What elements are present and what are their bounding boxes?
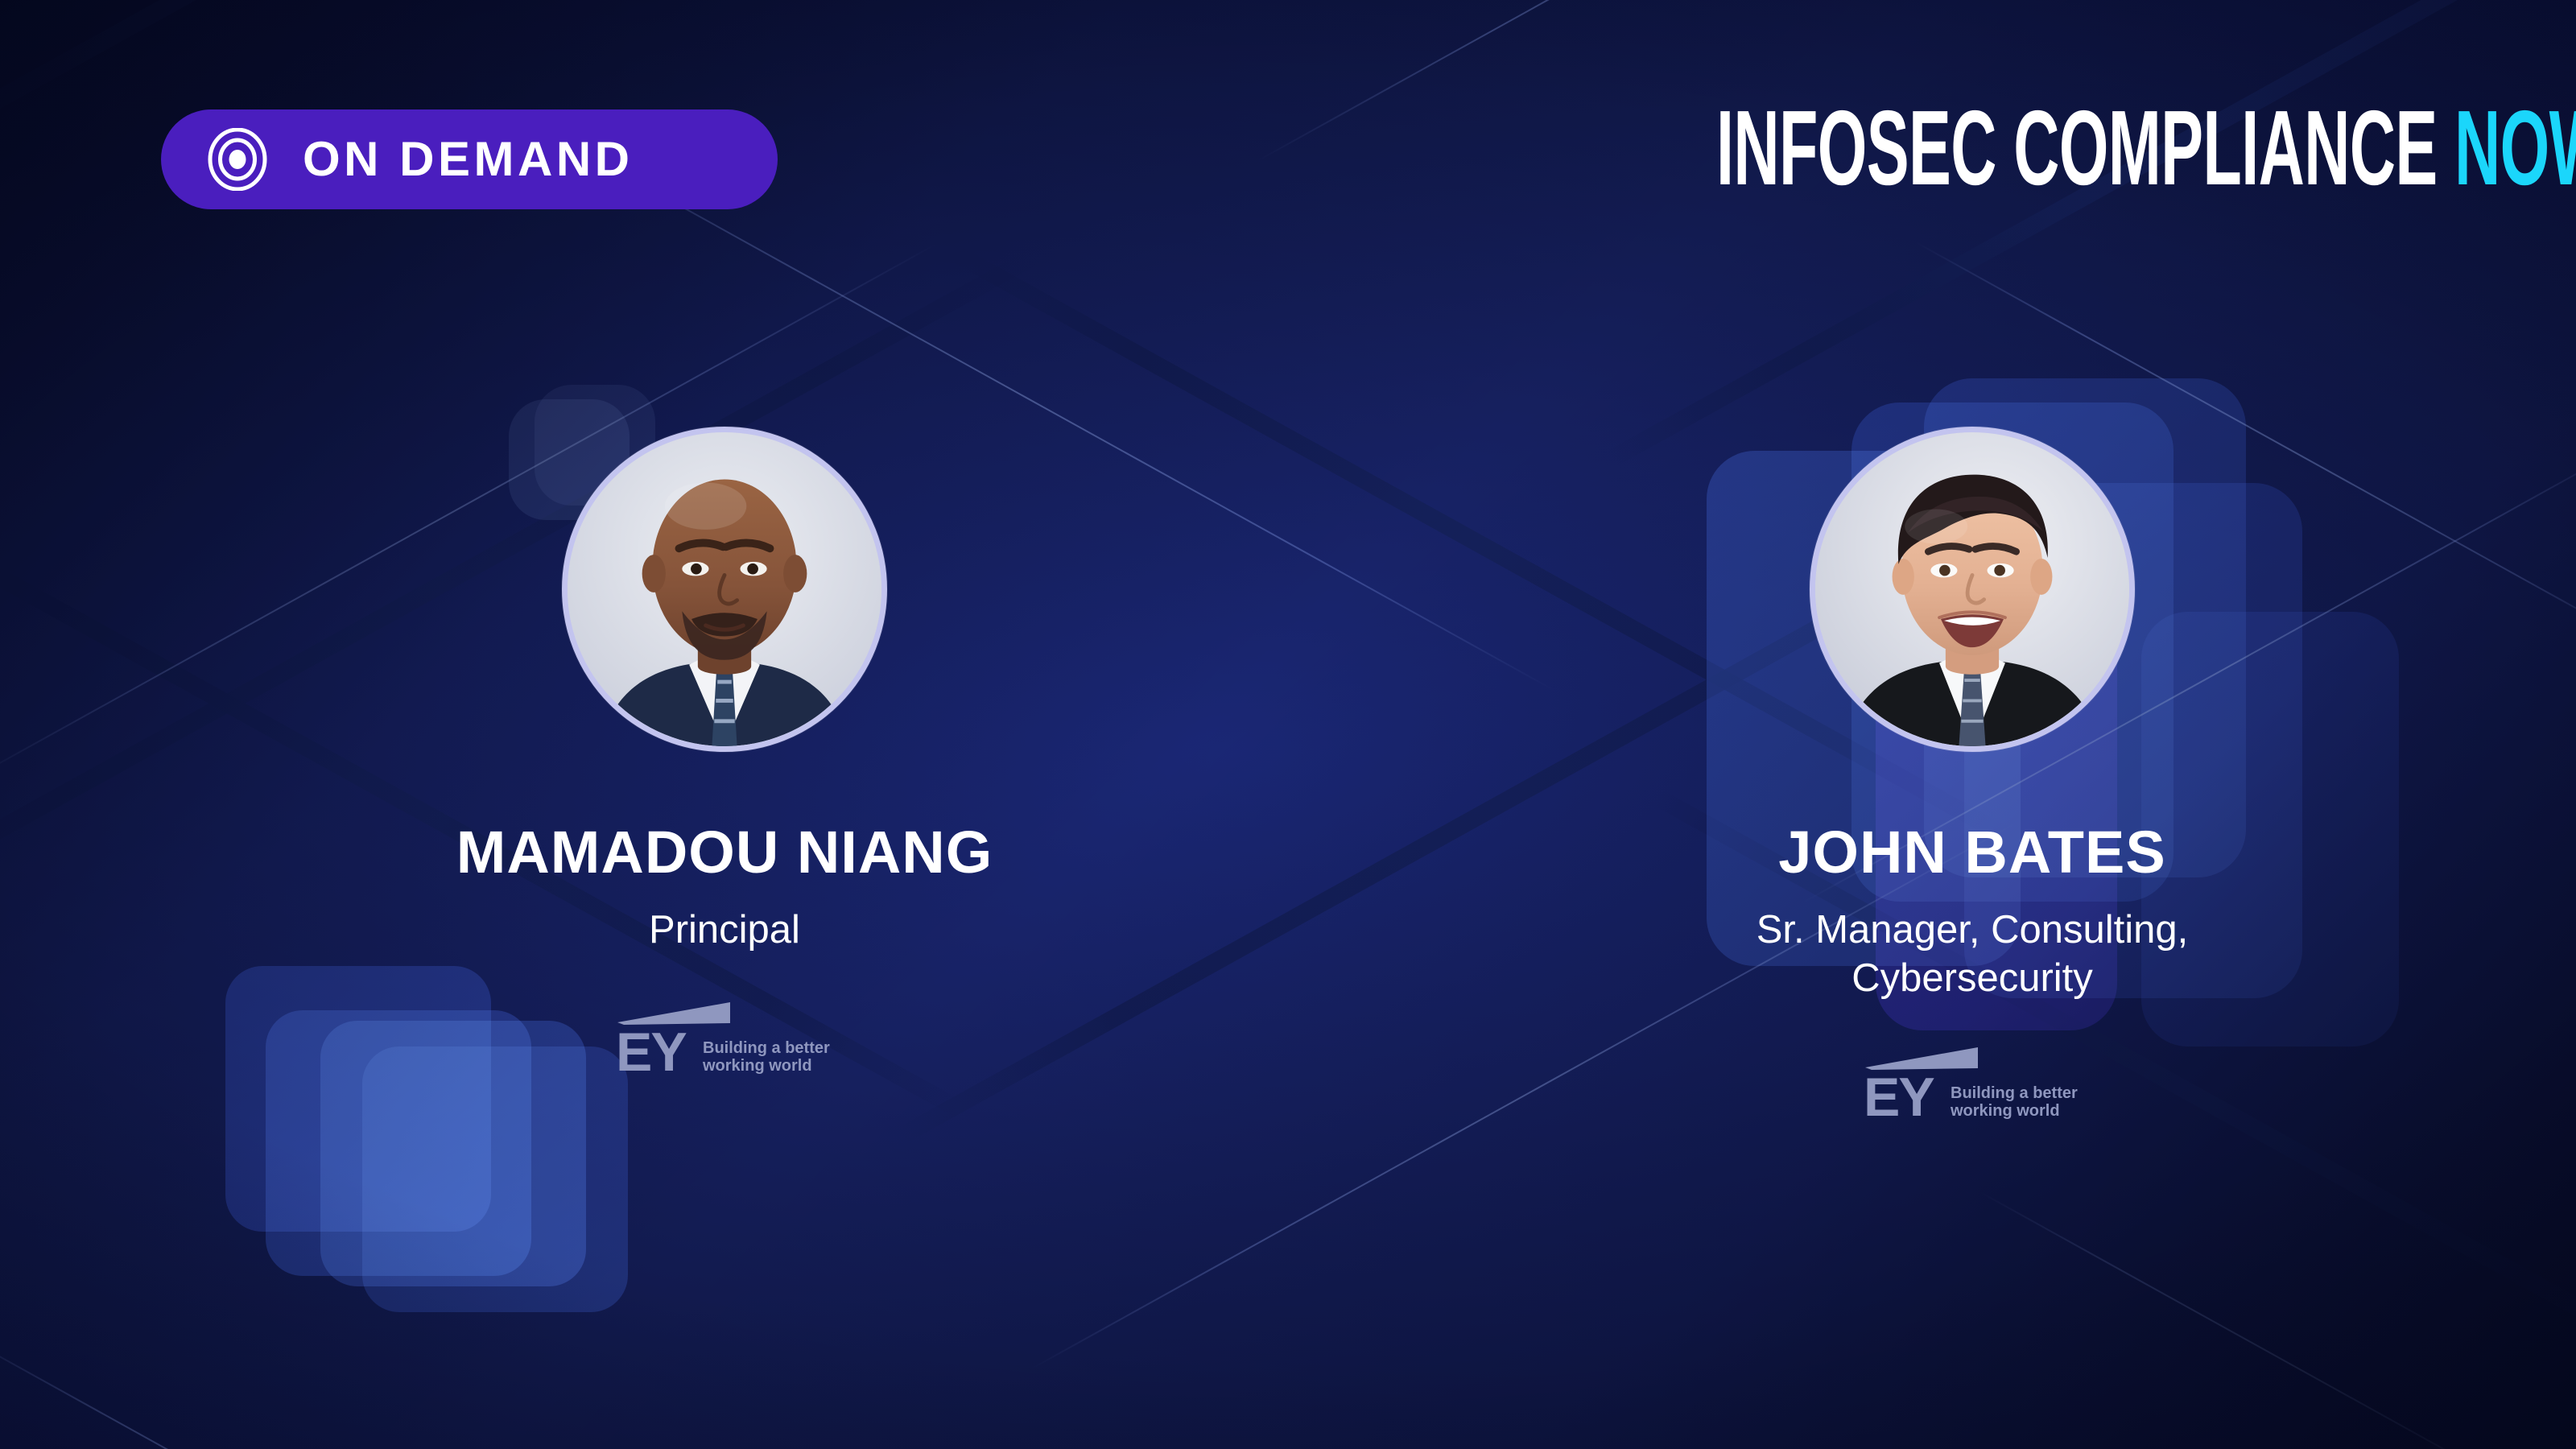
avatar	[562, 427, 887, 752]
svg-text:working world: working world	[1950, 1102, 2060, 1120]
speaker-card-john-bates: JOHN BATES Sr. Manager, Consulting, Cybe…	[1288, 427, 2576, 1121]
speaker-name: JOHN BATES	[1778, 823, 2165, 882]
speaker-role: Principal	[649, 906, 800, 955]
speaker-card-mamadou-niang: MAMADOU NIANG Principal EY Building a be…	[0, 427, 1288, 1121]
ey-logo: EY Building a better working world	[1856, 1032, 2089, 1121]
page-title-main: INFOSEC COMPLIANCE	[1716, 89, 2454, 207]
on-demand-badge[interactable]: ON DEMAND	[161, 109, 778, 209]
svg-text:EY: EY	[1864, 1067, 1934, 1121]
page-title: INFOSEC COMPLIANCE NOW	[1716, 95, 2431, 201]
svg-text:Building a better: Building a better	[703, 1039, 830, 1057]
page-title-accent: NOW	[2454, 89, 2576, 207]
speaker-name: MAMADOU NIANG	[456, 823, 993, 882]
avatar	[1810, 427, 2135, 752]
svg-text:Building a better: Building a better	[1951, 1084, 2078, 1102]
speaker-role: Sr. Manager, Consulting, Cybersecurity	[1666, 906, 2278, 1003]
promo-banner: ON DEMAND INFOSEC COMPLIANCE NOW	[0, 0, 2576, 1449]
svg-text:EY: EY	[616, 1022, 687, 1075]
on-demand-badge-label: ON DEMAND	[303, 135, 634, 184]
concentric-circles-icon	[206, 128, 269, 191]
svg-text:working world: working world	[702, 1057, 812, 1075]
ey-logo: EY Building a better working world	[608, 987, 841, 1075]
speakers-row: MAMADOU NIANG Principal EY Building a be…	[0, 427, 2576, 1121]
